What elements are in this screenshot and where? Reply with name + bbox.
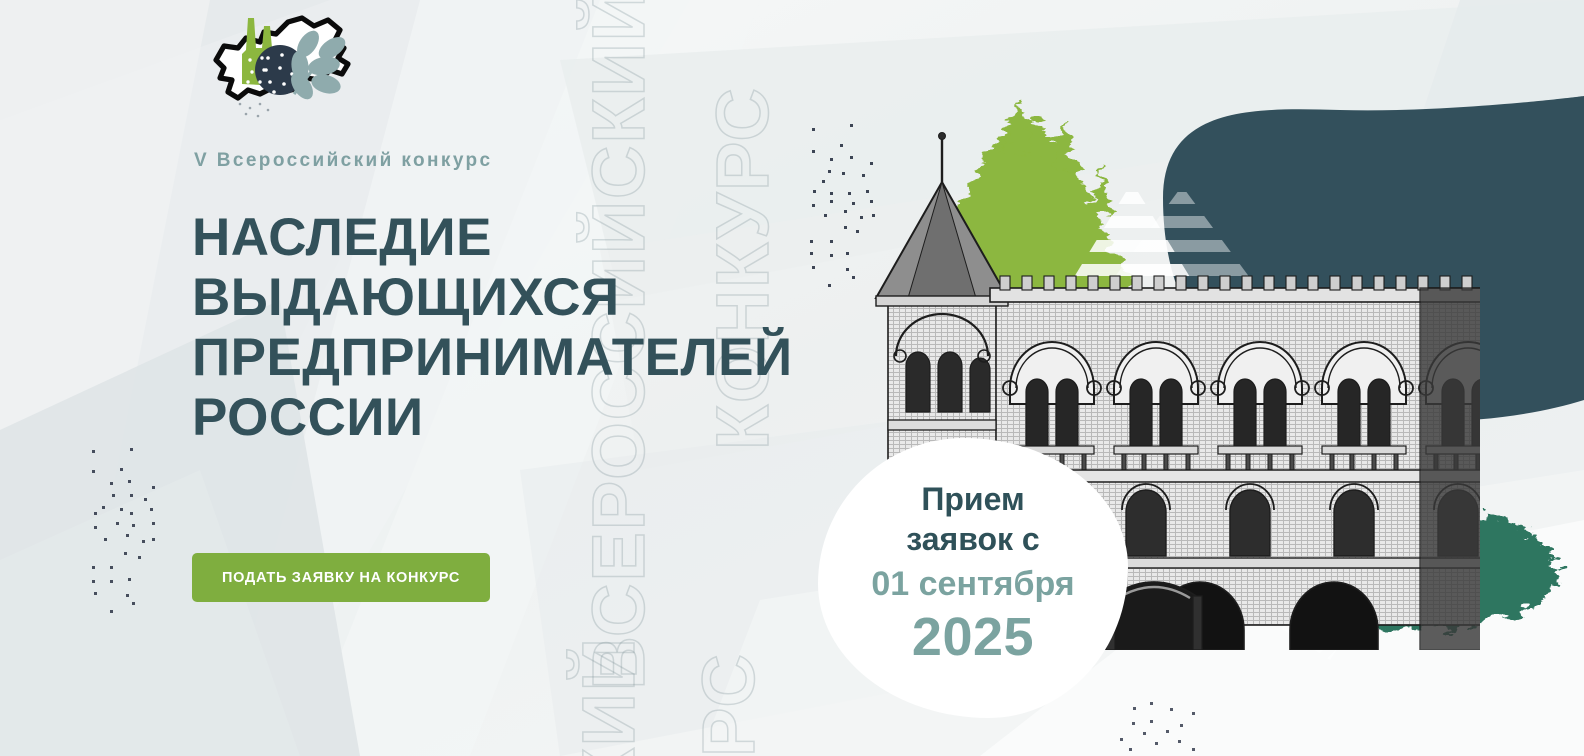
hero-banner: ВСЕРОССИЙСКИЙ КОНКУРС ВСЕРОССИЙСКИЙ КОНК…	[0, 0, 1584, 756]
badge-line-4: 2025	[912, 606, 1034, 670]
contest-eyebrow: V Всероссийский конкурс	[194, 150, 493, 172]
badge-line-3: 01 сентября	[871, 562, 1074, 606]
badge-line-1: Прием	[921, 480, 1024, 520]
logo-scatter-dots	[239, 103, 270, 118]
russia-map-leaves-logo-icon[interactable]	[202, 8, 362, 118]
page-title: Наследие выдающихся предпринимателей Рос…	[192, 208, 872, 448]
hero-content: V Всероссийский конкурс Наследие выдающи…	[192, 0, 892, 756]
badge-line-2: заявок с	[906, 520, 1039, 560]
submit-application-button[interactable]: Подать заявку на конкурс	[192, 553, 490, 602]
